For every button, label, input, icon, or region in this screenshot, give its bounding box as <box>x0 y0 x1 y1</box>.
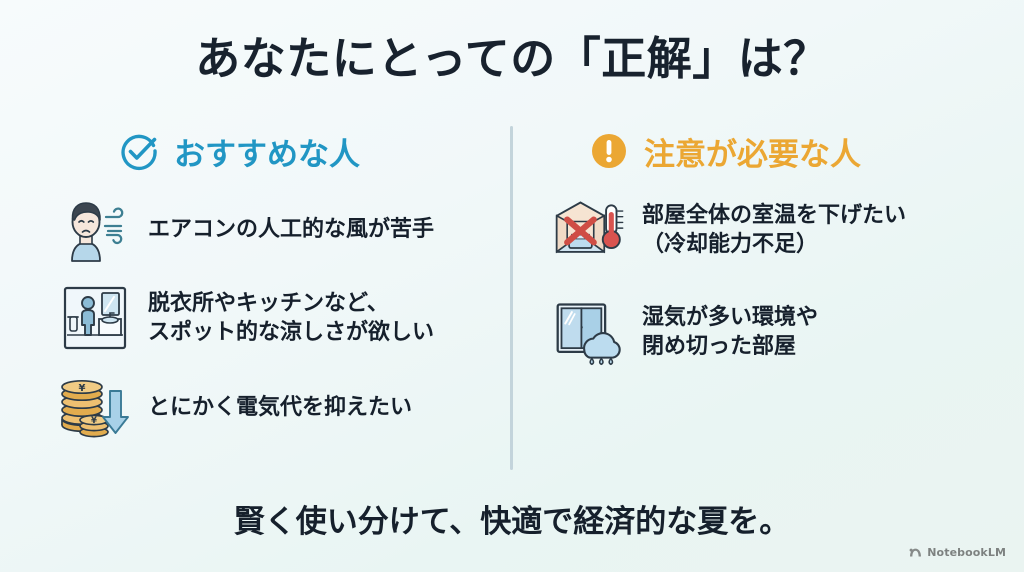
list-item-text: 部屋全体の室温を下げたい （冷却能力不足） <box>642 201 906 259</box>
column-heading-label-caution: 注意が必要な人 <box>644 129 861 174</box>
window-rain-cloud-icon <box>552 297 626 367</box>
list-item: 湿気が多い環境や 閉め切った部屋 <box>552 294 1002 370</box>
list-item-text: とにかく電気代を抑えたい <box>148 393 412 422</box>
column-heading-caution: 注意が必要な人 <box>588 124 1002 178</box>
slide-canvas: あなたにとっての「正解」は？ おすすめな人 <box>0 0 1024 572</box>
list-item: ¥ ¥ とにかく電気代を抑えたい <box>58 370 498 446</box>
room-thermometer-x-icon <box>552 195 626 265</box>
list-item-text: 湿気が多い環境や 閉め切った部屋 <box>642 303 818 361</box>
notebooklm-logo-icon <box>909 543 922 562</box>
svg-text:¥: ¥ <box>79 383 86 394</box>
page-title: あなたにとっての「正解」は？ <box>0 22 1024 87</box>
check-circle-icon <box>118 130 160 172</box>
column-caution: 注意が必要な人 <box>552 124 1002 380</box>
footer-message: 賢く使い分けて、快適で経済的な夏を。 <box>0 496 1024 541</box>
list-recommended: エアコンの人工的な風が苦手 <box>58 192 498 446</box>
column-heading-recommended: おすすめな人 <box>118 124 498 178</box>
list-item: エアコンの人工的な風が苦手 <box>58 192 498 268</box>
list-item-text: エアコンの人工的な風が苦手 <box>148 215 434 244</box>
watermark: NotebookLM <box>909 543 1006 562</box>
svg-text:¥: ¥ <box>91 416 97 426</box>
column-recommended: おすすめな人 <box>58 124 498 456</box>
list-item: 部屋全体の室温を下げたい （冷却能力不足） <box>552 192 1002 268</box>
list-item: 脱衣所やキッチンなど、 スポット的な涼しさが欲しい <box>58 280 498 356</box>
person-wind-icon <box>58 195 132 265</box>
changing-room-person-icon <box>58 283 132 353</box>
coins-down-arrow-icon: ¥ ¥ <box>58 373 132 443</box>
column-heading-label-recommended: おすすめな人 <box>174 129 360 174</box>
column-divider <box>510 126 513 470</box>
exclamation-circle-icon <box>588 130 630 172</box>
list-item-text: 脱衣所やキッチンなど、 スポット的な涼しさが欲しい <box>148 289 434 347</box>
watermark-label: NotebookLM <box>927 546 1006 559</box>
list-caution: 部屋全体の室温を下げたい （冷却能力不足） <box>552 192 1002 370</box>
